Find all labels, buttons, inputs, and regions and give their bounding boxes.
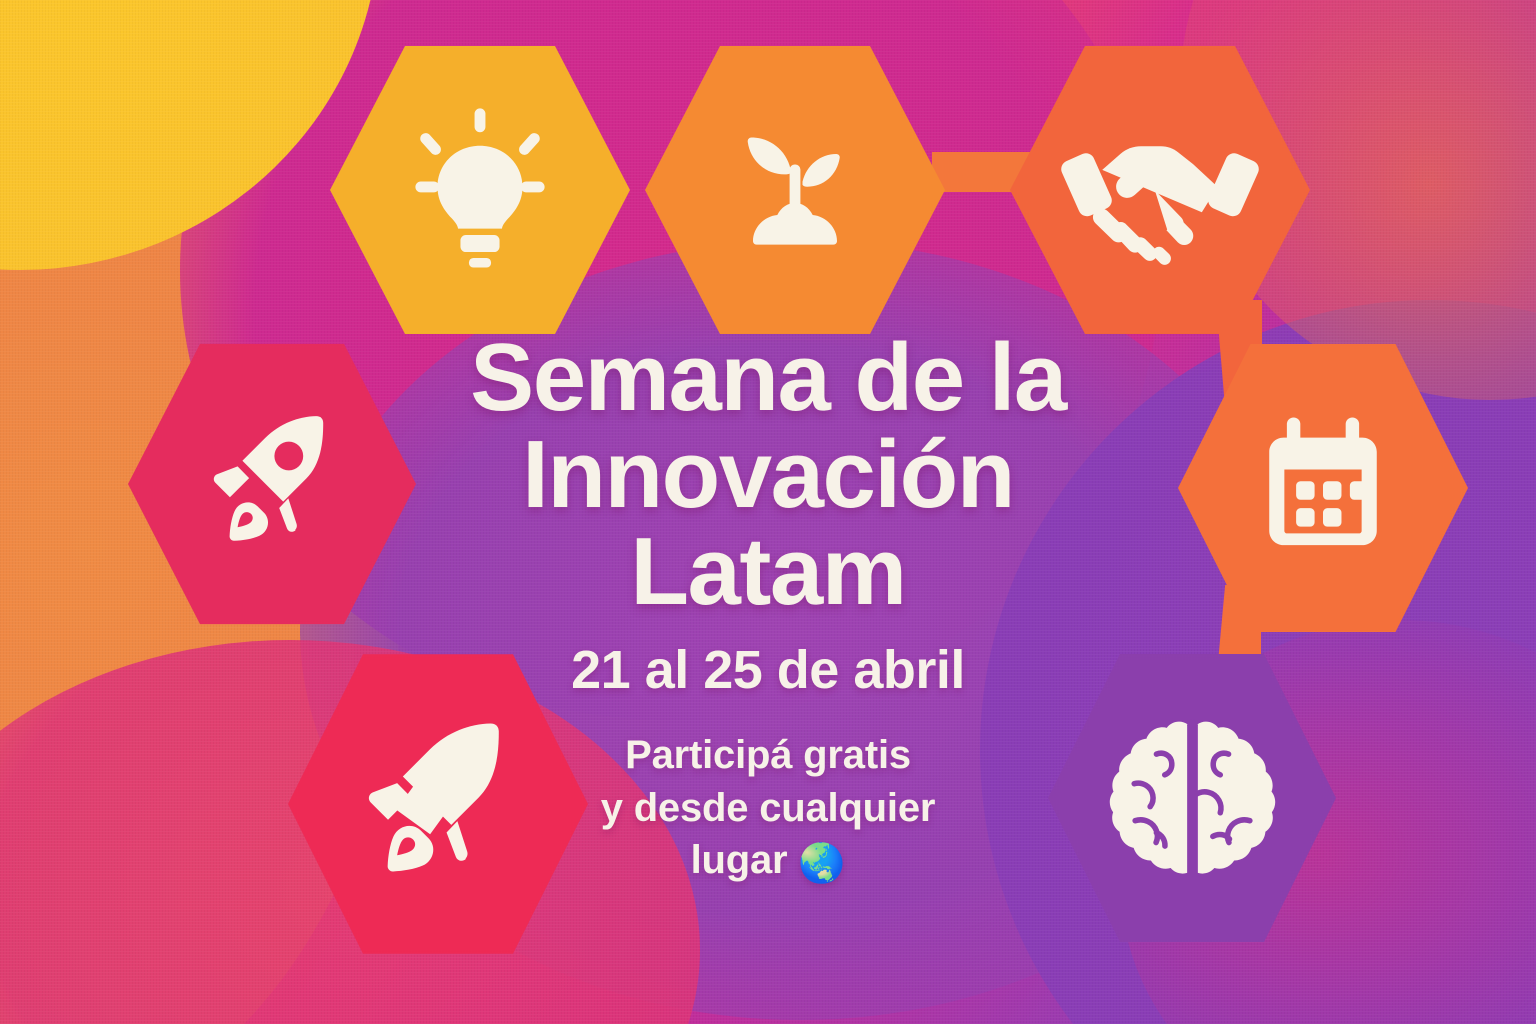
sprout-icon: [720, 115, 870, 265]
promo-poster: Semana de la Innovación Latam 21 al 25 d…: [0, 0, 1536, 1024]
poster-text-block: Semana de la Innovación Latam 21 al 25 d…: [0, 330, 1536, 890]
title-line-1: Semana de la: [0, 330, 1536, 427]
title-line-2: Innovación: [0, 427, 1536, 524]
subtitle-line-1: Participá gratis: [0, 729, 1536, 782]
event-dates: 21 al 25 de abril: [0, 639, 1536, 701]
subtitle-line-3-text: lugar: [691, 838, 788, 882]
subtitle-line-2: y desde cualquier: [0, 782, 1536, 835]
handshake-icon: [1055, 85, 1265, 295]
title-line-3: Latam: [0, 524, 1536, 621]
lightbulb-icon: [395, 105, 565, 275]
globe-icon: 🌏: [798, 843, 845, 885]
page-title: Semana de la Innovación Latam: [0, 330, 1536, 621]
subtitle-line-3: lugar 🌏: [0, 834, 1536, 889]
event-subtitle: Participá gratis y desde cualquier lugar…: [0, 729, 1536, 890]
